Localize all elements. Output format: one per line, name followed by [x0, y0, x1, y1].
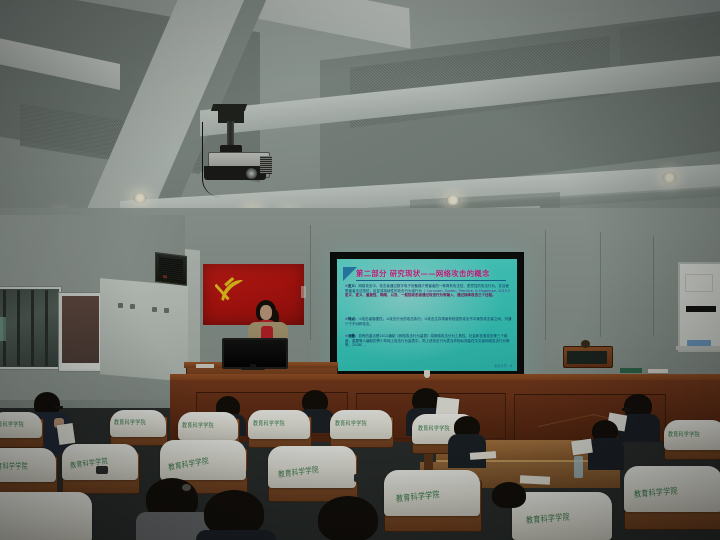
wall-seam-4 — [653, 236, 654, 336]
seat-cover-text: 教育科学学院 — [168, 453, 210, 472]
seat-cover-text: 教育科学学院 — [0, 460, 28, 471]
projector-cable — [202, 122, 229, 197]
seat-row1-7: 教育科学学院 — [664, 420, 720, 458]
seat-cover: 教育科学学院 — [0, 448, 56, 482]
wall-seam-2 — [545, 230, 546, 340]
water-bottle — [574, 456, 583, 478]
audience-person-7 — [200, 490, 272, 540]
whiteboard-tray — [676, 346, 720, 350]
seat-armrest-2 — [246, 470, 258, 478]
seat-row2-1: 教育科学学院 — [0, 448, 56, 492]
person-10-paper — [571, 439, 593, 456]
presenter-face — [260, 305, 272, 320]
seat-cover-text: 教育科学学院 — [418, 424, 450, 433]
seat-cover: 教育科学学院 — [160, 440, 246, 480]
presenter-laptop — [222, 338, 284, 370]
stage-chair — [563, 340, 611, 370]
downlight-2 — [133, 193, 147, 203]
wall-outlet-3 — [152, 307, 157, 312]
seat-cover: 教育科学学院 — [62, 444, 138, 480]
window-far-daylight — [0, 317, 6, 341]
stage-cup — [424, 370, 430, 378]
projection-screen: 第二部分 研究现状——网络攻击的概念 ※定义：网络攻击中，攻击者通过数字电子设备… — [330, 252, 524, 386]
seat-row2-5: 教育科学学院 — [384, 470, 480, 530]
seat-cover-text: 教育科学学院 — [335, 419, 367, 428]
whiteboard-smudge — [685, 274, 713, 292]
seat-row2-4: 教育科学学院 — [268, 446, 356, 500]
seat-armrest-3 — [354, 474, 366, 482]
seat-cover-text: 教育科学学院 — [0, 420, 24, 429]
whiteboard — [678, 262, 720, 352]
seat-cover-text: 教育科学学院 — [114, 418, 146, 427]
bullet-key-2: 特点： — [348, 317, 359, 321]
bullet-text-3: 初有的重点是2012编制《网络攻击行为量表》将网络攻击分为工具性、社会和言语攻击… — [345, 334, 510, 347]
wall-outlet-2 — [130, 304, 135, 309]
slide-footer: 北京大学 - 8 — [494, 363, 512, 368]
speaker-led — [163, 275, 167, 278]
seat-cover-text: 教育科学学院 — [396, 488, 441, 505]
slide-bullet-1: ※定义：网络攻击中，攻击者通过数字电子设备媒介受害者的一种具有攻击性、恶意性的攻… — [345, 284, 512, 298]
seat-row1-4: 教育科学学院 — [248, 410, 310, 446]
whiteboard-marking — [686, 306, 716, 312]
ceiling-projector — [190, 104, 310, 209]
seat-row1-2: 教育科学学院 — [110, 410, 166, 444]
person-9-body — [448, 434, 486, 468]
person-6-hairtie — [182, 484, 191, 491]
wall-panel-left — [100, 278, 188, 382]
seat-cover-text: 教育科学学院 — [253, 419, 285, 428]
lecture-hall-photo: 第二部分 研究现状——网络攻击的概念 ※定义：网络攻击中，攻击者通过数字电子设备… — [0, 0, 720, 540]
seat-cover: 教育科学学院 — [384, 470, 480, 516]
seat-row1-5: 教育科学学院 — [330, 410, 392, 446]
downlight-5 — [446, 195, 460, 205]
wall-outlet-1 — [118, 303, 123, 308]
window-bar-2 — [17, 290, 20, 366]
window-far — [0, 286, 62, 370]
person-5-glasses-icon — [622, 408, 631, 411]
seat-cover: 教育科学学院 — [248, 410, 310, 439]
audience-person-11 — [492, 482, 532, 526]
flag-tape — [301, 286, 306, 298]
stage-chair-pad — [567, 351, 607, 364]
wall-speaker — [155, 252, 187, 286]
seat-cover: 教育科学学院 — [664, 420, 720, 450]
slide-bullet-2: ※特点：①攻击者隐匿性；②攻击行为的攻击执行；③攻击生存场景有较强的攻击不平衡的… — [345, 317, 512, 326]
person-7-body — [196, 530, 276, 540]
seat-cover: 教育科学学院 — [0, 412, 42, 438]
bullet-key-3: 测量： — [348, 334, 359, 338]
seat-cover-text: 教育科学学院 — [668, 430, 700, 439]
seat-cover-text: 教育科学学院 — [182, 421, 214, 430]
window-bar-4 — [45, 290, 48, 366]
wall-seam-1 — [310, 225, 311, 340]
person-10-body — [588, 438, 624, 470]
window-bar-3 — [31, 290, 34, 366]
person-1-paper — [57, 423, 76, 445]
slide-corner-mark-icon — [343, 267, 357, 281]
stage-paper — [648, 369, 668, 373]
seat-cover-text: 教育科学学院 — [526, 511, 570, 527]
projector-lens — [246, 168, 257, 179]
seat-row2-6: 教育科学学院 — [624, 466, 720, 528]
seat-cover: 教育科学学院 — [624, 466, 720, 512]
seat-cover — [0, 492, 92, 540]
seat-cover: 教育科学学院 — [178, 412, 238, 440]
seat-armrest-1 — [96, 466, 108, 474]
bullet-latin-1: Cornnam, Gorbin, Prentice, & Hogeman, 20… — [427, 289, 507, 293]
person-1-glasses-icon — [54, 406, 63, 409]
window-far-glass — [0, 289, 59, 367]
wall-outlet-4 — [164, 308, 169, 313]
seat-cover: 教育科学学院 — [330, 410, 392, 439]
slide-surface: 第二部分 研究现状——网络攻击的概念 ※定义：网络攻击中，攻击者通过数字电子设备… — [337, 259, 517, 371]
seat-row1-1: 教育科学学院 — [0, 412, 42, 446]
bullet-key-1: 定义： — [348, 284, 359, 288]
seat-cover-text: 教育科学学院 — [634, 485, 678, 501]
desk-papers — [196, 364, 214, 368]
person-11-hair — [492, 482, 526, 508]
slide-title: 第二部分 研究现状——网络攻击的概念 — [356, 269, 490, 279]
stage-book — [620, 368, 642, 373]
person-8-hair — [318, 496, 378, 540]
audience-person-10 — [588, 420, 628, 470]
stage-chair-knob — [581, 340, 590, 348]
bullet-text-2: ①攻击者隐匿性；②攻击行为的攻击执行；③攻击生存场景有较强的攻击不平衡的攻击者之… — [345, 317, 511, 326]
wall-seam-3 — [600, 232, 601, 337]
slide-bullet-3: ※测量：初有的重点是2012编制《网络攻击行为量表》将网络攻击分为工具性、社会和… — [345, 334, 512, 348]
seat-foreground-left — [0, 492, 92, 540]
audience-person-9 — [448, 416, 490, 468]
downlight-6 — [662, 172, 677, 183]
seat-cover: 教育科学学院 — [110, 410, 166, 437]
loose-paper-2 — [520, 475, 550, 485]
slide-title-underline — [356, 280, 506, 281]
seat-cover: 教育科学学院 — [268, 446, 356, 488]
laptop-base — [241, 367, 265, 370]
seat-cover-text: 教育科学学院 — [278, 462, 320, 480]
audience-person-8 — [318, 496, 382, 540]
projector-vent — [260, 156, 272, 174]
